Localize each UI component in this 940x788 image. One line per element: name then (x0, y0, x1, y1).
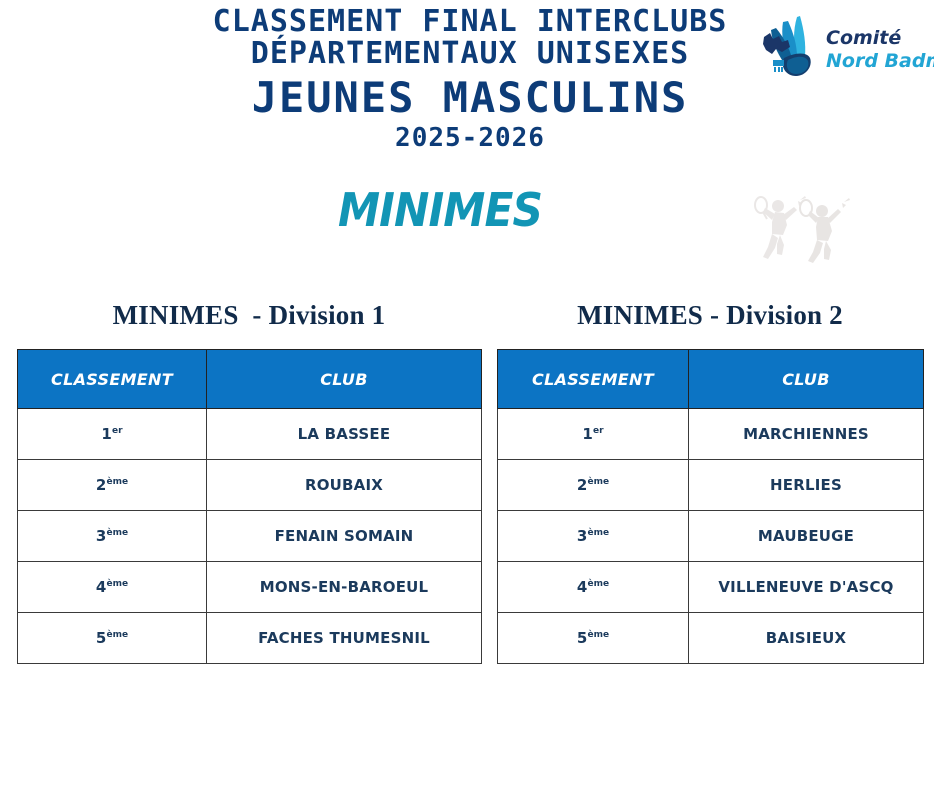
club-cell: HERLIES (689, 460, 924, 511)
table-header-row: CLASSEMENT CLUB (498, 350, 924, 409)
rank-suffix: ème (107, 477, 129, 487)
table-row: 2ème HERLIES (498, 460, 924, 511)
page-header: CLASSEMENT FINAL INTERCLUBS DÉPARTEMENTA… (0, 0, 940, 170)
division-2-table: CLASSEMENT CLUB 1er MARCHIENNES 2ème HER… (497, 349, 924, 664)
column-header-classement: CLASSEMENT (498, 350, 689, 409)
rank-suffix: er (112, 426, 123, 436)
rank-cell: 1er (498, 409, 689, 460)
column-header-club: CLUB (207, 350, 482, 409)
club-cell: FACHES THUMESNIL (207, 613, 482, 664)
club-cell: MONS-EN-BAROEUL (207, 562, 482, 613)
division-1-block: MINIMES - Division 1 CLASSEMENT CLUB 1er… (17, 300, 481, 664)
rank-suffix: ème (107, 579, 129, 589)
category-row: MINIMES (0, 183, 940, 263)
table-row: 4ème VILLENEUVE D'ASCQ (498, 562, 924, 613)
table-row: 3ème MAUBEUGE (498, 511, 924, 562)
rank-suffix: ème (107, 630, 129, 640)
rank-suffix: ème (588, 477, 610, 487)
division-1-table: CLASSEMENT CLUB 1er LA BASSEE 2ème ROUBA… (17, 349, 482, 664)
rank-cell: 5ème (498, 613, 689, 664)
table-row: 4ème MONS-EN-BAROEUL (18, 562, 482, 613)
rank-cell: 3ème (498, 511, 689, 562)
division-2-title: MINIMES - Division 2 (497, 300, 923, 331)
rank-cell: 1er (18, 409, 207, 460)
division-1-title: MINIMES - Division 1 (17, 300, 481, 331)
club-cell: MAUBEUGE (689, 511, 924, 562)
rank-suffix: ème (107, 528, 129, 538)
rank-cell: 2ème (18, 460, 207, 511)
rank-number: 4 (577, 578, 588, 596)
rank-number: 4 (96, 578, 107, 596)
rank-number: 1 (101, 425, 112, 443)
column-header-classement: CLASSEMENT (18, 350, 207, 409)
logo-text-comite: Comité (826, 27, 901, 49)
rank-cell: 3ème (18, 511, 207, 562)
club-cell: ROUBAIX (207, 460, 482, 511)
badminton-players-silhouette (742, 189, 852, 263)
table-row: 1er MARCHIENNES (498, 409, 924, 460)
table-header-row: CLASSEMENT CLUB (18, 350, 482, 409)
rank-number: 3 (577, 527, 588, 545)
table-row: 3ème FENAIN SOMAIN (18, 511, 482, 562)
club-cell: VILLENEUVE D'ASCQ (689, 562, 924, 613)
rank-number: 5 (96, 629, 107, 647)
shuttlecock-icon (763, 16, 811, 76)
table-row: 1er LA BASSEE (18, 409, 482, 460)
rank-number: 2 (96, 476, 107, 494)
club-cell: MARCHIENNES (689, 409, 924, 460)
rank-number: 3 (96, 527, 107, 545)
comite-nord-badminton-logo: Comité Nord Badminton (748, 8, 934, 86)
logo-text-nord-badminton: Nord Badminton (826, 50, 934, 72)
column-header-club: CLUB (689, 350, 924, 409)
rank-cell: 5ème (18, 613, 207, 664)
division-2-block: MINIMES - Division 2 CLASSEMENT CLUB 1er… (497, 300, 923, 664)
rank-number: 2 (577, 476, 588, 494)
rank-cell: 2ème (498, 460, 689, 511)
rank-cell: 4ème (498, 562, 689, 613)
club-cell: FENAIN SOMAIN (207, 511, 482, 562)
table-row: 5ème FACHES THUMESNIL (18, 613, 482, 664)
title-line-4-season: 2025-2026 (0, 124, 940, 152)
rank-suffix: ème (588, 630, 610, 640)
table-row: 2ème ROUBAIX (18, 460, 482, 511)
table-row: 5ème BAISIEUX (498, 613, 924, 664)
rank-suffix: ème (588, 528, 610, 538)
rank-cell: 4ème (18, 562, 207, 613)
rank-number: 1 (582, 425, 593, 443)
category-label: MINIMES (35, 183, 845, 237)
rank-suffix: ème (588, 579, 610, 589)
club-cell: BAISIEUX (689, 613, 924, 664)
rank-suffix: er (593, 426, 604, 436)
club-cell: LA BASSEE (207, 409, 482, 460)
rank-number: 5 (577, 629, 588, 647)
